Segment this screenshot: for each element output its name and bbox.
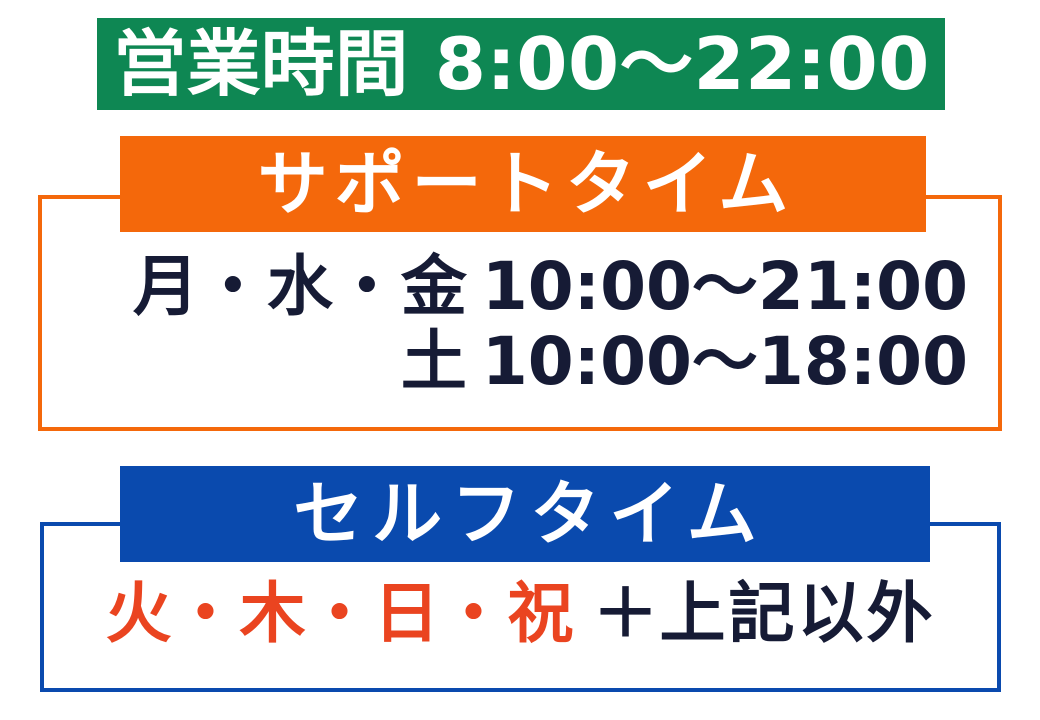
business-hours-banner-text: 営業時間 8:00〜22:00 — [113, 28, 930, 100]
support-time-row-1-days: 月・水・金 — [133, 248, 468, 325]
business-hours-poster: 営業時間 8:00〜22:00 サポートタイム 月・水・金10:00〜21:00… — [0, 0, 1040, 720]
support-time-row-2: 土10:00〜18:00 — [38, 325, 968, 400]
self-time-plus-sign: ＋ — [593, 575, 660, 652]
support-time-row-2-time: 10:00〜18:00 — [482, 323, 968, 400]
support-time-row-2-days: 土 — [401, 323, 468, 400]
support-time-heading-text: サポートタイム — [251, 149, 796, 219]
self-time-description: 火・木・日・祝＋上記以外 — [40, 578, 1001, 651]
self-time-remainder: 上記以外 — [660, 575, 936, 652]
support-time-row-1-time: 10:00〜21:00 — [482, 248, 968, 325]
support-time-heading-banner: サポートタイム — [120, 136, 926, 232]
self-time-heading-text: セルフタイム — [284, 479, 766, 549]
support-time-row-1: 月・水・金10:00〜21:00 — [38, 250, 968, 325]
self-time-heading-banner: セルフタイム — [120, 466, 930, 562]
business-hours-banner: 営業時間 8:00〜22:00 — [97, 18, 945, 110]
self-time-days: 火・木・日・祝 — [106, 575, 575, 652]
support-time-schedule-list: 月・水・金10:00〜21:00 土10:00〜18:00 — [38, 250, 990, 399]
